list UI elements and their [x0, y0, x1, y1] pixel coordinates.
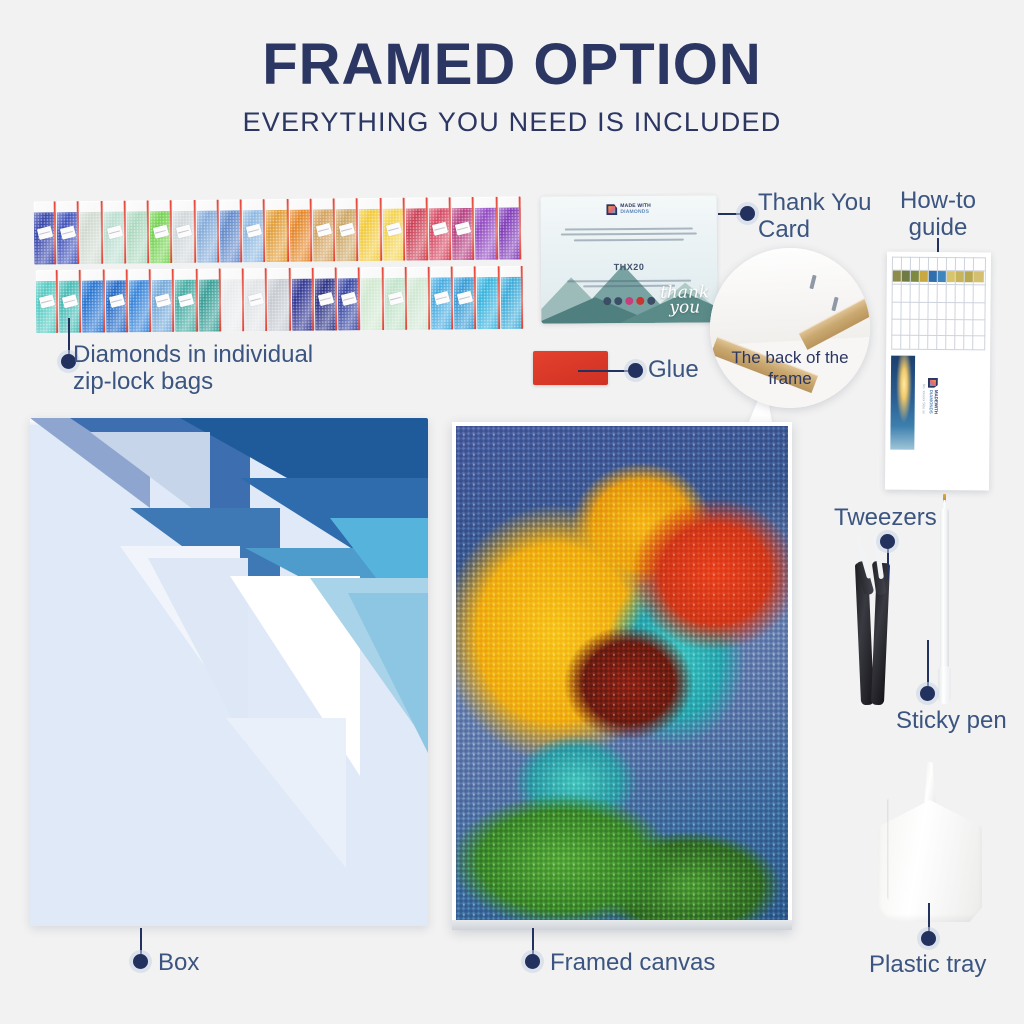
pen-body [940, 508, 949, 686]
color-chart-table [891, 257, 986, 350]
guide-brand-text: MADEWITH DIAMONDS [928, 390, 937, 414]
zip-lock-bag [196, 200, 219, 263]
zip-lock-bag [150, 200, 173, 263]
callout-dot-box [133, 954, 148, 969]
zip-lock-bag [405, 197, 428, 260]
bag-sheen [57, 201, 80, 264]
zip-lock-bag [243, 199, 266, 262]
facebook-icon [603, 297, 611, 305]
bag-sheen [477, 266, 500, 329]
callout-dot-thank-you [740, 206, 755, 221]
zip-lock-bag [452, 197, 475, 260]
box-facet [226, 718, 346, 868]
box-facet [348, 593, 428, 753]
zip-lock-bag [454, 266, 477, 329]
callout-label-how-to: How-to guide [893, 188, 983, 242]
bag-sheen [173, 200, 196, 263]
zip-lock-bag [175, 269, 198, 332]
zip-lock-bag [57, 201, 80, 264]
bag-sheen [220, 199, 243, 262]
bag-sheen [34, 201, 57, 264]
zip-lock-bag [361, 267, 384, 330]
tray-ribs [887, 798, 973, 900]
zip-lock-bag [220, 199, 243, 262]
bag-sheen [36, 270, 59, 333]
diamond-logo-icon [606, 204, 617, 215]
callout-dot-glue [628, 363, 643, 378]
page-title: FRAMED OPTION [0, 36, 1024, 94]
zip-lock-bag [34, 201, 57, 264]
bag-sheen [266, 199, 289, 262]
guide-artwork-thumbnail [890, 356, 915, 450]
bag-sheen [431, 266, 454, 329]
zip-lock-bag [477, 266, 500, 329]
callout-dot-tweezers [880, 534, 895, 549]
canvas-artwork [456, 426, 788, 920]
bag-sheen [338, 267, 361, 330]
callout-label-tweezers: Tweezers [834, 505, 937, 532]
callout-dot-pen [920, 686, 935, 701]
callout-label-canvas: Framed canvas [550, 950, 715, 977]
bag-sheen [198, 269, 221, 332]
bag-sheen [289, 199, 312, 262]
zip-lock-bag [336, 198, 359, 261]
bag-sheen [382, 198, 405, 261]
bag-sheen [129, 269, 152, 332]
bag-sheen [361, 267, 384, 330]
bag-sheen [80, 201, 103, 264]
zip-lock-bag [407, 267, 430, 330]
page-subtitle: EVERYTHING YOU NEED IS INCLUDED [0, 107, 1024, 138]
bag-sheen [196, 200, 219, 263]
leader-line-tweezers [887, 545, 889, 580]
bag-sheen [498, 196, 521, 259]
sticky-pen [932, 494, 958, 708]
bag-sheen [103, 201, 126, 264]
bag-sheen [243, 199, 266, 262]
zip-lock-bag-row-1 [34, 196, 523, 264]
instagram-icon [625, 297, 633, 305]
zip-lock-bag [359, 198, 382, 261]
callout-dot-canvas [525, 954, 540, 969]
glue-bottle [533, 351, 608, 385]
zip-lock-bag [198, 269, 221, 332]
bag-sheen [245, 268, 268, 331]
thank-you-card: MADE WITH DIAMONDS THX20 thank you [541, 195, 718, 323]
leader-line-pen [927, 640, 929, 688]
bag-sheen [500, 266, 523, 329]
bag-sheen [429, 197, 452, 260]
bag-sheen [268, 268, 291, 331]
zip-lock-bag [80, 201, 103, 264]
frame-back-panel [710, 248, 870, 345]
zip-lock-bag [384, 267, 407, 330]
bag-sheen [127, 200, 150, 263]
bag-sheen [452, 197, 475, 260]
bag-sheen [150, 200, 173, 263]
zip-lock-bag [105, 269, 128, 332]
callout-label-tray: Plastic tray [869, 952, 986, 979]
callout-label-diamonds: Diamonds in individual zip-lock bags [73, 342, 313, 396]
zip-lock-bag [500, 266, 523, 329]
pinterest-icon [636, 297, 644, 305]
bag-sheen [175, 269, 198, 332]
bag-sheen [315, 268, 338, 331]
bag-sheen [407, 267, 430, 330]
zip-lock-bag [338, 267, 361, 330]
zip-lock-bag [173, 200, 196, 263]
how-to-guide-booklet: MADEWITH DIAMONDS No. xxxxxx Size xx [885, 252, 991, 491]
callout-label-box: Box [158, 950, 199, 977]
zip-lock-bag [431, 266, 454, 329]
bag-sheen [105, 269, 128, 332]
card-body-text [555, 223, 703, 244]
back-of-frame-bubble: The back of the frame [710, 248, 870, 408]
zip-lock-bag [312, 198, 335, 261]
card-social-icons [603, 297, 655, 305]
guide-caption: No. xxxxxx Size xx [922, 384, 926, 414]
zip-lock-bag [475, 197, 498, 260]
bag-sheen [152, 269, 175, 332]
zip-lock-bag [382, 198, 405, 261]
infographic-canvas: FRAMED OPTION EVERYTHING YOU NEED IS INC… [0, 0, 1024, 1024]
bag-sheen [475, 197, 498, 260]
zip-lock-bag [245, 268, 268, 331]
diamond-sparkle-overlay [456, 426, 788, 920]
zip-lock-bag [498, 196, 521, 259]
callout-dot-tray [921, 931, 936, 946]
tiktok-icon [614, 297, 622, 305]
plastic-tray [878, 762, 982, 922]
card-thank-you-script: thank you [660, 285, 709, 317]
zip-lock-bag [59, 270, 82, 333]
callout-label-thank-you: Thank You Card [758, 190, 871, 244]
youtube-icon [647, 297, 655, 305]
zip-lock-bag [429, 197, 452, 260]
zip-lock-bag [103, 201, 126, 264]
pen-grip [938, 666, 951, 704]
bag-sheen [59, 270, 82, 333]
bag-sheen [291, 268, 314, 331]
zip-lock-bag [129, 269, 152, 332]
framed-canvas [452, 422, 792, 930]
bag-sheen [405, 197, 428, 260]
card-brand-logo: MADE WITH DIAMONDS [606, 204, 651, 215]
leader-line-glue [578, 370, 634, 372]
bag-sheen [82, 270, 105, 333]
leader-line-diamonds [68, 318, 70, 358]
zip-lock-bag [289, 199, 312, 262]
bag-sheen [359, 198, 382, 261]
zip-lock-bag [152, 269, 175, 332]
zip-lock-bag [36, 270, 59, 333]
zip-lock-bag [82, 270, 105, 333]
bag-sheen [222, 268, 245, 331]
bubble-text: The back of the frame [710, 348, 870, 389]
zip-lock-bag [222, 268, 245, 331]
bag-sheen [312, 198, 335, 261]
zip-lock-bag [268, 268, 291, 331]
card-discount-code: THX20 [541, 261, 717, 272]
canvas-bottom-edge [452, 920, 792, 930]
diamond-logo-icon [928, 378, 938, 388]
callout-label-glue: Glue [648, 357, 699, 384]
zip-lock-bag [127, 200, 150, 263]
zip-lock-bag [315, 268, 338, 331]
bag-sheen [336, 198, 359, 261]
zip-lock-bag [291, 268, 314, 331]
bag-sheen [384, 267, 407, 330]
zip-lock-bag-row-2 [36, 266, 525, 333]
bag-sheen [454, 266, 477, 329]
tweezers [852, 535, 898, 705]
callout-label-pen: Sticky pen [896, 708, 1007, 735]
zip-lock-bag [266, 199, 289, 262]
product-box: MADEWITH DIAMONDS [30, 418, 428, 926]
guide-brand-logo: MADEWITH DIAMONDS [928, 378, 938, 414]
card-brand-text: MADE WITH DIAMONDS [620, 204, 651, 215]
